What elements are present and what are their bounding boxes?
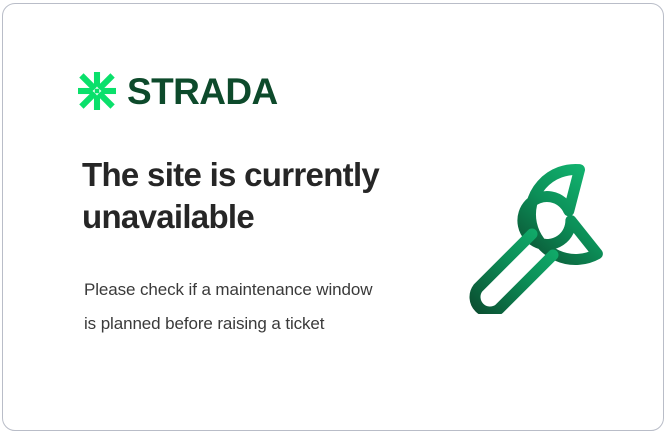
wrench-icon [458,154,618,314]
status-card: STRADA The site is currently unavailable… [2,3,664,431]
page-description: Please check if a maintenance window is … [84,273,384,341]
brand-wordmark: STRADA [127,73,278,110]
page-title: The site is currently unavailable [82,154,412,238]
brand-lockup: STRADA [78,72,278,110]
strada-asterisk-icon [78,72,116,110]
page-root: STRADA The site is currently unavailable… [0,0,666,436]
